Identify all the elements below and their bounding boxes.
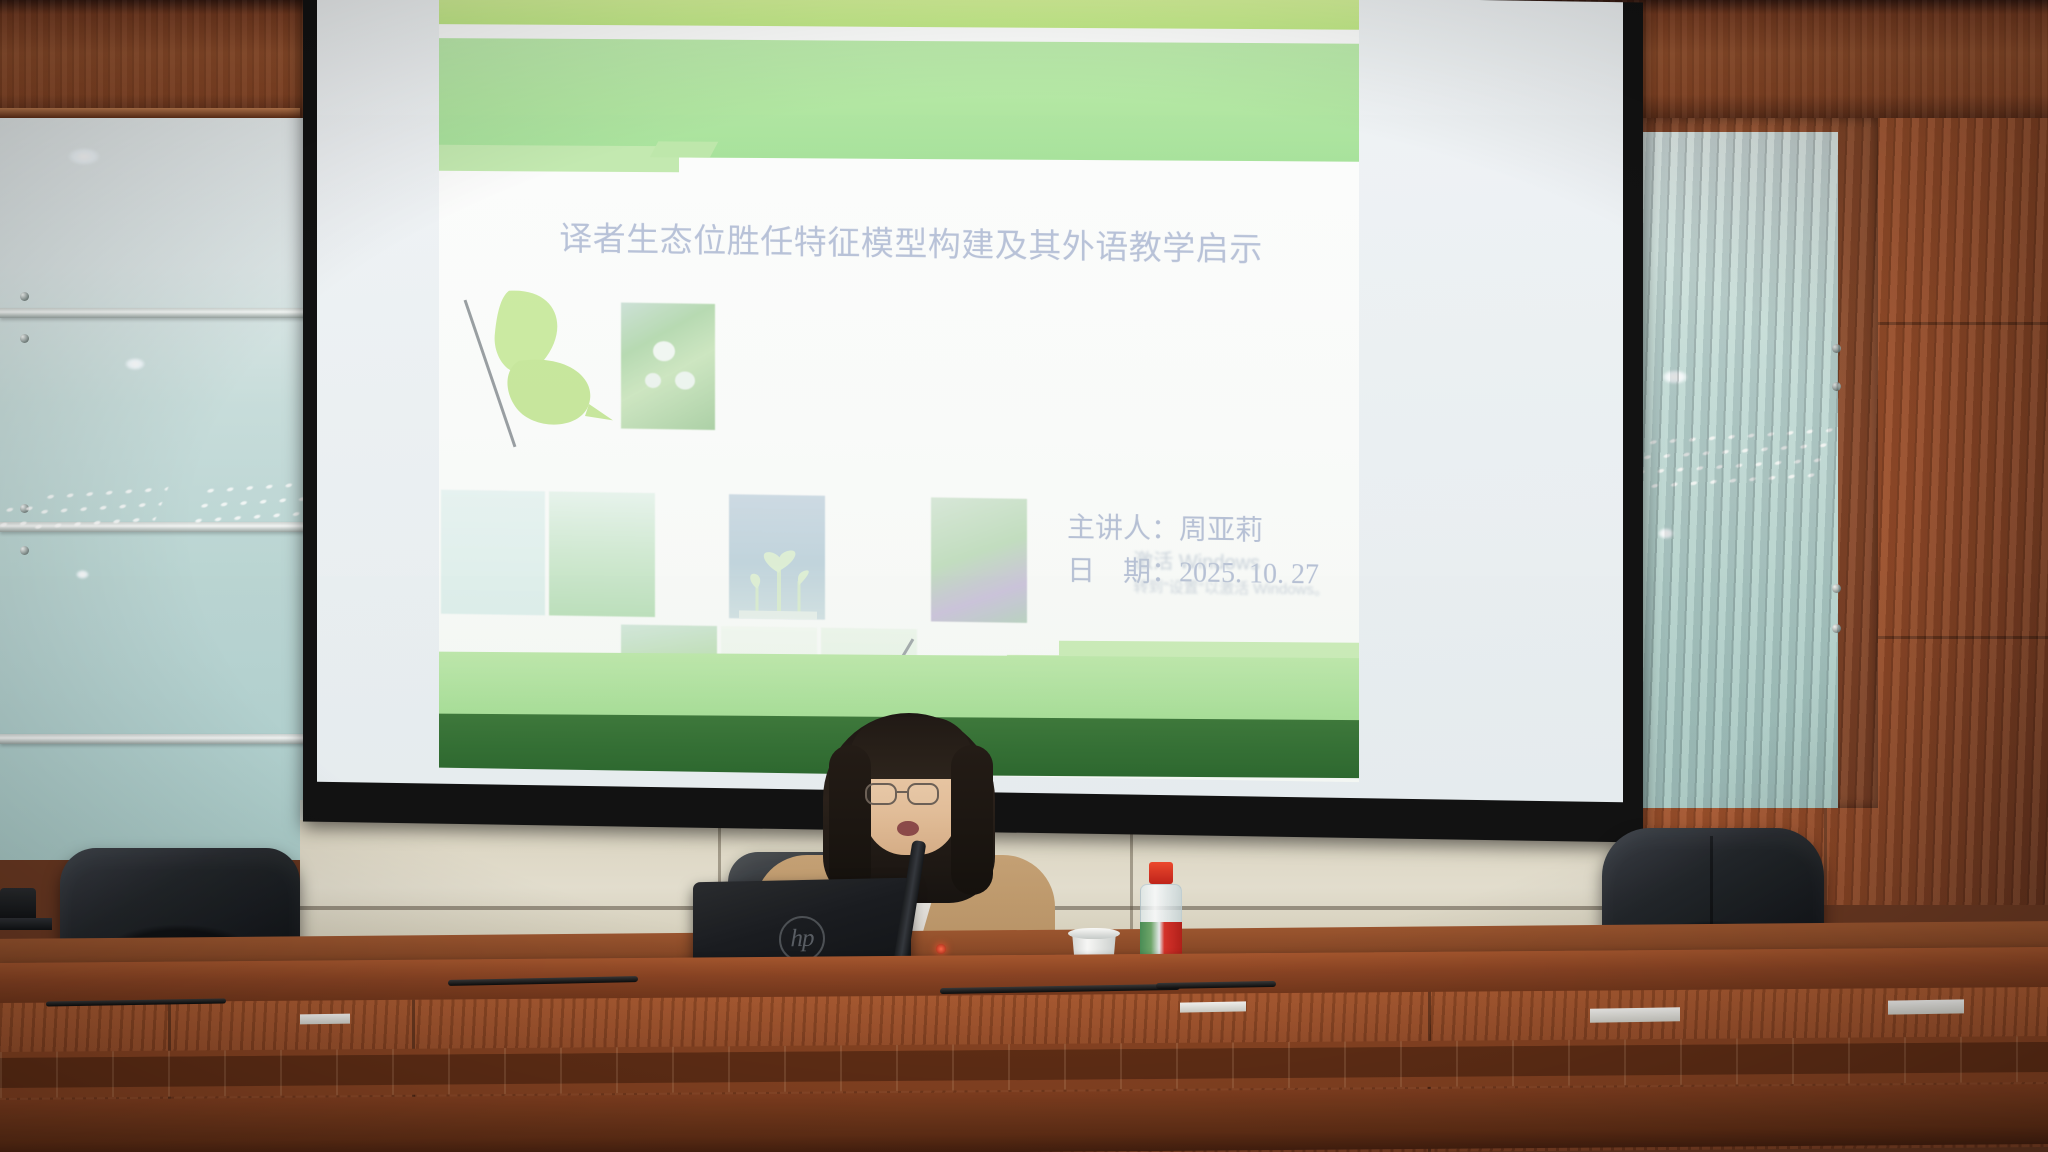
paper-cup-rim — [1068, 928, 1120, 939]
screen-white-surface: 译者生态位胜任特征模型构建及其外语教学启示 — [317, 0, 1623, 802]
ceiling-light-reflection — [125, 358, 145, 370]
desk-paper — [1590, 1007, 1680, 1023]
water-bottle-cap — [1149, 862, 1173, 884]
collage-tile-pale-square — [441, 490, 545, 616]
right-wood-wall — [1578, 0, 2048, 905]
collage-tile-grass — [549, 491, 655, 617]
desk-paper — [1180, 1001, 1246, 1012]
presenter-glasses-right — [907, 783, 939, 805]
microphone-indicator-light — [936, 944, 946, 954]
lecture-hall-photo: 译者生态位胜任特征模型构建及其外语教学启示 — [0, 0, 2048, 1152]
slide-top-green-band — [439, 38, 1359, 162]
presenter-glasses-left — [865, 783, 897, 805]
powerpoint-slide: 译者生态位胜任特征模型构建及其外语教学启示 — [439, 0, 1359, 782]
leaf-decoration-icon — [447, 278, 637, 471]
watermark-line-2: 转到"设置"以激活 Windows。 — [1133, 576, 1329, 602]
desk-device-left — [0, 888, 36, 922]
hp-logo-icon: hp — [779, 915, 825, 962]
presenter-glasses-bridge — [897, 791, 907, 793]
slide-top-thin-band — [439, 0, 1359, 30]
desk-paper — [1888, 999, 1964, 1014]
collage-tile-purple-foliage — [931, 497, 1027, 623]
presenter-mouth — [897, 821, 919, 836]
seedling-icon — [739, 522, 817, 619]
desk-device-left-base — [0, 918, 52, 930]
room-background: 译者生态位胜任特征模型构建及其外语教学启示 — [0, 0, 2048, 1152]
collage-tile-white-flowers — [621, 303, 715, 430]
presenter-hair-right — [951, 745, 993, 895]
slide-title: 译者生态位胜任特征模型构建及其外语教学启示 — [501, 211, 1321, 272]
slide-band-notch-diagonal — [650, 141, 719, 157]
windows-activation-watermark: 激活 Windows 转到"设置"以激活 Windows。 — [1133, 546, 1329, 602]
watermark-line-1: 激活 Windows — [1133, 546, 1329, 579]
slide-band-notch — [439, 145, 679, 172]
ceiling-light-reflection — [68, 148, 100, 165]
presenter-hair-left — [829, 745, 871, 895]
desk-paper — [300, 1014, 350, 1025]
